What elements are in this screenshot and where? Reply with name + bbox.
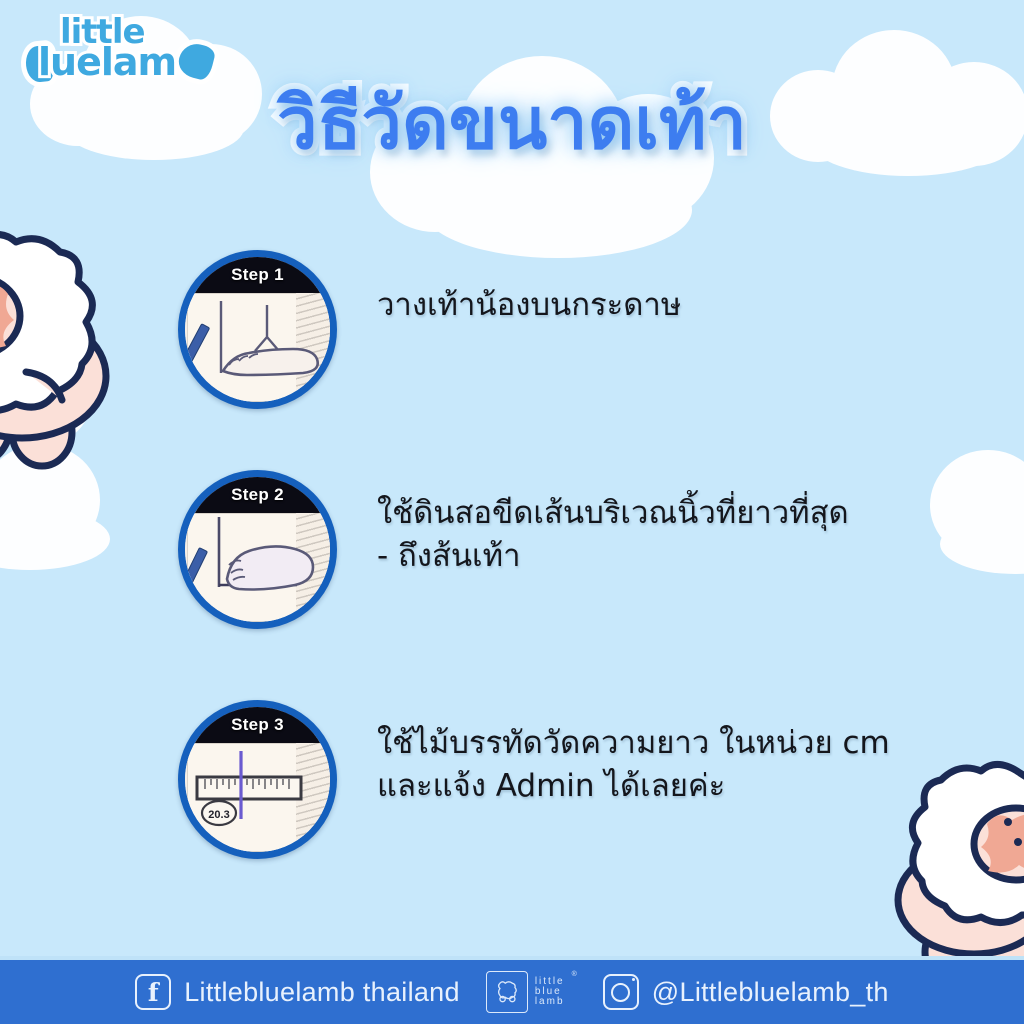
poster-canvas: little luelam วิธีวัดขนาดเท้า [0, 0, 1024, 1024]
instagram-dot-icon [632, 978, 636, 982]
facebook-link[interactable]: f Littlebluelamb thailand [135, 974, 460, 1010]
facebook-glyph: f [148, 980, 159, 1005]
measurement-value: 20.3 [208, 809, 229, 821]
lamb-mark-right-icon [175, 40, 216, 81]
step-item-2: Step 2 ใช้ดินสอขีดเส้นบริเวณนิ้วที่ยาวที… [178, 470, 849, 629]
step-text-3: ใช้ไม้บรรทัดวัดความยาว ในหน่วย cm และแจ้… [377, 700, 890, 808]
footer-brand-text: little blue lamb [535, 977, 565, 1008]
footer-bar: f Littlebluelamb thailand little blue la… [0, 956, 1024, 1024]
facebook-label: Littlebluelamb thailand [184, 977, 460, 1008]
step-badge-band-2: Step 2 [185, 477, 330, 513]
instagram-link[interactable]: @Littlebluelamb_th [603, 974, 889, 1010]
step-badge-3[interactable]: Step 3 20.3 [178, 700, 337, 859]
step-badge-label-2: Step 2 [231, 485, 284, 505]
page-title: วิธีวัดขนาดเท้า [0, 86, 1024, 162]
step-illustration-2 [185, 507, 330, 622]
brand-logo: little luelam [14, 14, 224, 89]
footer-brand-line3: lamb [535, 997, 565, 1007]
instagram-lens-icon [611, 983, 630, 1002]
step-badge-label-1: Step 1 [231, 265, 284, 285]
step-illustration-1 [185, 287, 330, 402]
footer-brand-mark: little blue lamb ® [486, 971, 577, 1013]
lamb-mascot-left-icon [0, 196, 137, 471]
step-text-2: ใช้ดินสอขีดเส้นบริเวณนิ้วที่ยาวที่สุด - … [377, 470, 849, 578]
step-illustration-3: 20.3 [185, 737, 330, 852]
step-badge-band-3: Step 3 [185, 707, 330, 743]
logo-text-bluelamb: luelam [38, 40, 176, 84]
lamb-mascot-right-icon [881, 748, 1024, 980]
step-badge-label-3: Step 3 [231, 715, 284, 735]
step-badge-2[interactable]: Step 2 [178, 470, 337, 629]
step-text-1: วางเท้าน้องบนกระดาษ [377, 250, 681, 327]
instagram-label: @Littlebluelamb_th [652, 977, 889, 1008]
step-badge-1[interactable]: Step 1 [178, 250, 337, 409]
lamb-logo-icon [486, 971, 528, 1013]
instagram-icon[interactable] [603, 974, 639, 1010]
step-item-3: Step 3 20.3 ใช้ไม้บรรทัดวัดความยาว ในหน่… [178, 700, 890, 859]
step-item-1: Step 1 วางเท้าน้องบนกระดาษ [178, 250, 681, 409]
step-badge-band-1: Step 1 [185, 257, 330, 293]
facebook-icon[interactable]: f [135, 974, 171, 1010]
registered-symbol: ® [572, 971, 577, 978]
